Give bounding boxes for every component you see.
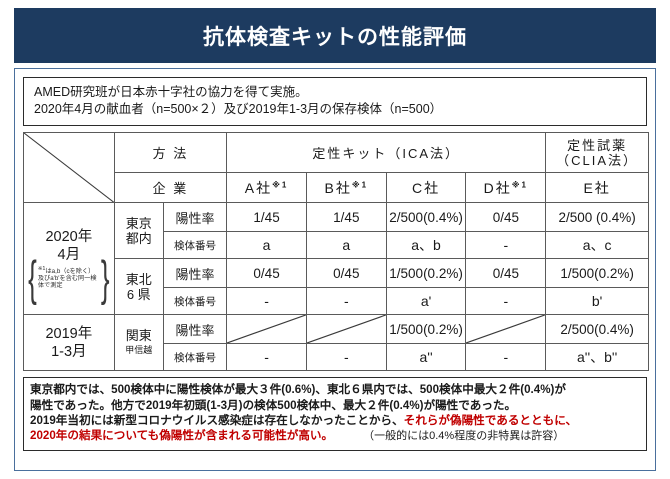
cell-kanto-id-e: a''、b'' xyxy=(546,344,649,371)
cell-tokyo-id-a: a xyxy=(227,232,307,259)
company-label: 企 業 xyxy=(114,173,227,203)
firm-note-b: ※1 xyxy=(352,180,368,189)
method-label: 方 法 xyxy=(114,133,227,173)
period-label-2020: 2020年 4月 { ※1はa,b（cを除く）及びa'b'を含む同一検体で測定 … xyxy=(24,203,115,315)
firm-name-c: C社 xyxy=(412,180,440,196)
conclusion-line-2: 陽性であった。他方で2019年初頭(1-3月)の検体500検体中、最大２件(0.… xyxy=(30,398,640,413)
group-clia-label: 定性試薬 （CLIA法） xyxy=(546,133,649,173)
firm-name-b: B社 xyxy=(325,180,352,196)
cell-kanto-id-b: - xyxy=(306,344,386,371)
metric-label-rate-tokyo: 陽性率 xyxy=(163,203,226,232)
page-title: 抗体検査キットの性能評価 xyxy=(203,21,467,51)
strike-diagonal-icon xyxy=(466,315,545,343)
region-tokyo-line1: 東京 xyxy=(115,216,163,231)
firm-header-c: C社 xyxy=(386,173,466,203)
region-tokyo-line2: 都内 xyxy=(115,231,163,246)
cell-tokyo-rate-b: 1/45 xyxy=(306,203,386,232)
metric-label-id-kanto: 検体番号 xyxy=(163,344,226,371)
cell-kanto-rate-e: 2/500(0.4%) xyxy=(546,315,649,344)
cell-tohoku-id-c: a' xyxy=(386,288,466,315)
footnote-text: はa,b（cを除く）及びa'b'を含む同一検体で測定 xyxy=(38,268,97,290)
group-clia-line1: 定性試薬 xyxy=(546,138,648,153)
metric-label-rate-kanto: 陽性率 xyxy=(163,315,226,344)
cell-tohoku-id-a: - xyxy=(227,288,307,315)
cell-tohoku-rate-d: 0/45 xyxy=(466,259,546,288)
cell-tokyo-rate-d: 0/45 xyxy=(466,203,546,232)
table-header-company-row: 企 業 A社※1 B社※1 C社 D社※1 E社 xyxy=(24,173,649,203)
conclusion-line-3: 2019年当初には新型コロナウイルス感染症は存在しなかったことから、それらが偽陽… xyxy=(30,413,640,428)
cell-kanto-id-d: - xyxy=(466,344,546,371)
cell-tohoku-id-e: b' xyxy=(546,288,649,315)
conclusion-box: 東京都内では、500検体中に陽性検体が最大３件(0.6%)、東北６県内では、50… xyxy=(23,377,647,451)
strike-diagonal-icon xyxy=(227,315,306,343)
firm-name-d: D社 xyxy=(484,180,512,196)
cell-tohoku-rate-a: 0/45 xyxy=(227,259,307,288)
cell-tohoku-id-b: - xyxy=(306,288,386,315)
firm-name-a: A社 xyxy=(245,180,272,196)
period-label-2019: 2019年 1-3月 xyxy=(24,315,115,371)
cell-tokyo-rate-e: 2/500 (0.4%) xyxy=(546,203,649,232)
row-tokyo-rate: 2020年 4月 { ※1はa,b（cを除く）及びa'b'を含む同一検体で測定 … xyxy=(24,203,649,232)
cell-tohoku-rate-b: 0/45 xyxy=(306,259,386,288)
firm-header-e: E社 xyxy=(546,173,649,203)
intro-line-2: 2020年4月の献血者（n=500×２）及び2019年1-3月の保存検体（n=5… xyxy=(34,101,636,118)
title-bar: 抗体検査キットの性能評価 xyxy=(14,8,656,63)
firm-note-a: ※1 xyxy=(272,180,288,189)
conclusion-line-3-black: 2019年当初には新型コロナウイルス感染症は存在しなかったことから、 xyxy=(30,414,404,427)
metric-label-rate-tohoku: 陽性率 xyxy=(163,259,226,288)
cell-tokyo-rate-a: 1/45 xyxy=(227,203,307,232)
group-ica-label: 定性キット（ICA法） xyxy=(227,133,546,173)
cell-tokyo-id-c: a、b xyxy=(386,232,466,259)
cell-kanto-rate-d-unused xyxy=(466,315,546,344)
firm-header-b: B社※1 xyxy=(306,173,386,203)
cell-tokyo-rate-c: 2/500(0.4%) xyxy=(386,203,466,232)
region-tohoku-line2: 6 県 xyxy=(115,287,163,302)
cell-tokyo-id-d: - xyxy=(466,232,546,259)
content-frame: AMED研究班が日本赤十字社の協力を得て実施。 2020年4月の献血者（n=50… xyxy=(14,68,656,471)
cell-tohoku-rate-e: 1/500(0.2%) xyxy=(546,259,649,288)
conclusion-line-4-paren: （一般的には0.4%程度の非特異は許容） xyxy=(363,430,564,442)
brace-left-icon: { xyxy=(28,268,37,287)
cell-kanto-rate-a-unused xyxy=(227,315,307,344)
brace-right-icon: } xyxy=(101,268,110,287)
group-clia-line2: （CLIA法） xyxy=(546,153,648,168)
firm-name-e: E社 xyxy=(583,180,610,196)
cell-kanto-rate-b-unused xyxy=(306,315,386,344)
footnote-mark: ※1 xyxy=(38,266,46,272)
table-header-method-row: 方 法 定性キット（ICA法） 定性試薬 （CLIA法） xyxy=(24,133,649,173)
strike-diagonal-icon xyxy=(307,315,386,343)
row-kanto-rate: 2019年 1-3月 関東 甲信越 陽性率 1/500(0.2%) xyxy=(24,315,649,344)
conclusion-line-3-red: それらが偽陽性であるとともに、 xyxy=(404,414,577,427)
conclusion-line-4-red: 2020年の結果についても偽陽性が含まれる可能性が高い。 xyxy=(30,429,333,442)
conclusion-line-4: 2020年の結果についても偽陽性が含まれる可能性が高い。（一般的には0.4%程度… xyxy=(30,428,640,444)
period-2020-line1: 2020年 xyxy=(24,228,114,246)
region-label-kanto: 関東 甲信越 xyxy=(114,315,163,371)
intro-box: AMED研究班が日本赤十字社の協力を得て実施。 2020年4月の献血者（n=50… xyxy=(23,77,647,126)
region-label-tokyo: 東京 都内 xyxy=(114,203,163,259)
cell-kanto-id-c: a'' xyxy=(386,344,466,371)
row-tohoku-rate: 東北 6 県 陽性率 0/45 0/45 1/500(0.2%) 0/45 1/… xyxy=(24,259,649,288)
cell-tohoku-id-d: - xyxy=(466,288,546,315)
region-kanto-line1: 関東 xyxy=(115,328,163,343)
cell-tohoku-rate-c: 1/500(0.2%) xyxy=(386,259,466,288)
corner-diagonal-cell xyxy=(24,133,115,203)
cell-tokyo-id-b: a xyxy=(306,232,386,259)
firm-header-a: A社※1 xyxy=(227,173,307,203)
region-kanto-line2: 甲信越 xyxy=(115,343,163,358)
conclusion-line-1: 東京都内では、500検体中に陽性検体が最大３件(0.6%)、東北６県内では、50… xyxy=(30,382,640,397)
period-2019-line1: 2019年 xyxy=(24,325,114,343)
cell-tokyo-id-e: a、c xyxy=(546,232,649,259)
intro-line-1: AMED研究班が日本赤十字社の協力を得て実施。 xyxy=(34,84,636,101)
diagonal-line-icon xyxy=(24,133,114,202)
metric-label-id-tohoku: 検体番号 xyxy=(163,288,226,315)
metric-label-id-tokyo: 検体番号 xyxy=(163,232,226,259)
firm-header-d: D社※1 xyxy=(466,173,546,203)
region-label-tohoku: 東北 6 県 xyxy=(114,259,163,315)
period-2019-line2: 1-3月 xyxy=(24,343,114,361)
performance-table: 方 法 定性キット（ICA法） 定性試薬 （CLIA法） 企 業 A社※1 B社… xyxy=(23,132,649,371)
region-tohoku-line1: 東北 xyxy=(115,272,163,287)
cell-kanto-id-a: - xyxy=(227,344,307,371)
footnote-body: ※1はa,b（cを除く）及びa'b'を含む同一検体で測定 xyxy=(37,266,101,290)
cell-kanto-rate-c: 1/500(0.2%) xyxy=(386,315,466,344)
footnote-annotation: { ※1はa,b（cを除く）及びa'b'を含む同一検体で測定 } xyxy=(24,266,114,290)
firm-note-d: ※1 xyxy=(512,180,528,189)
